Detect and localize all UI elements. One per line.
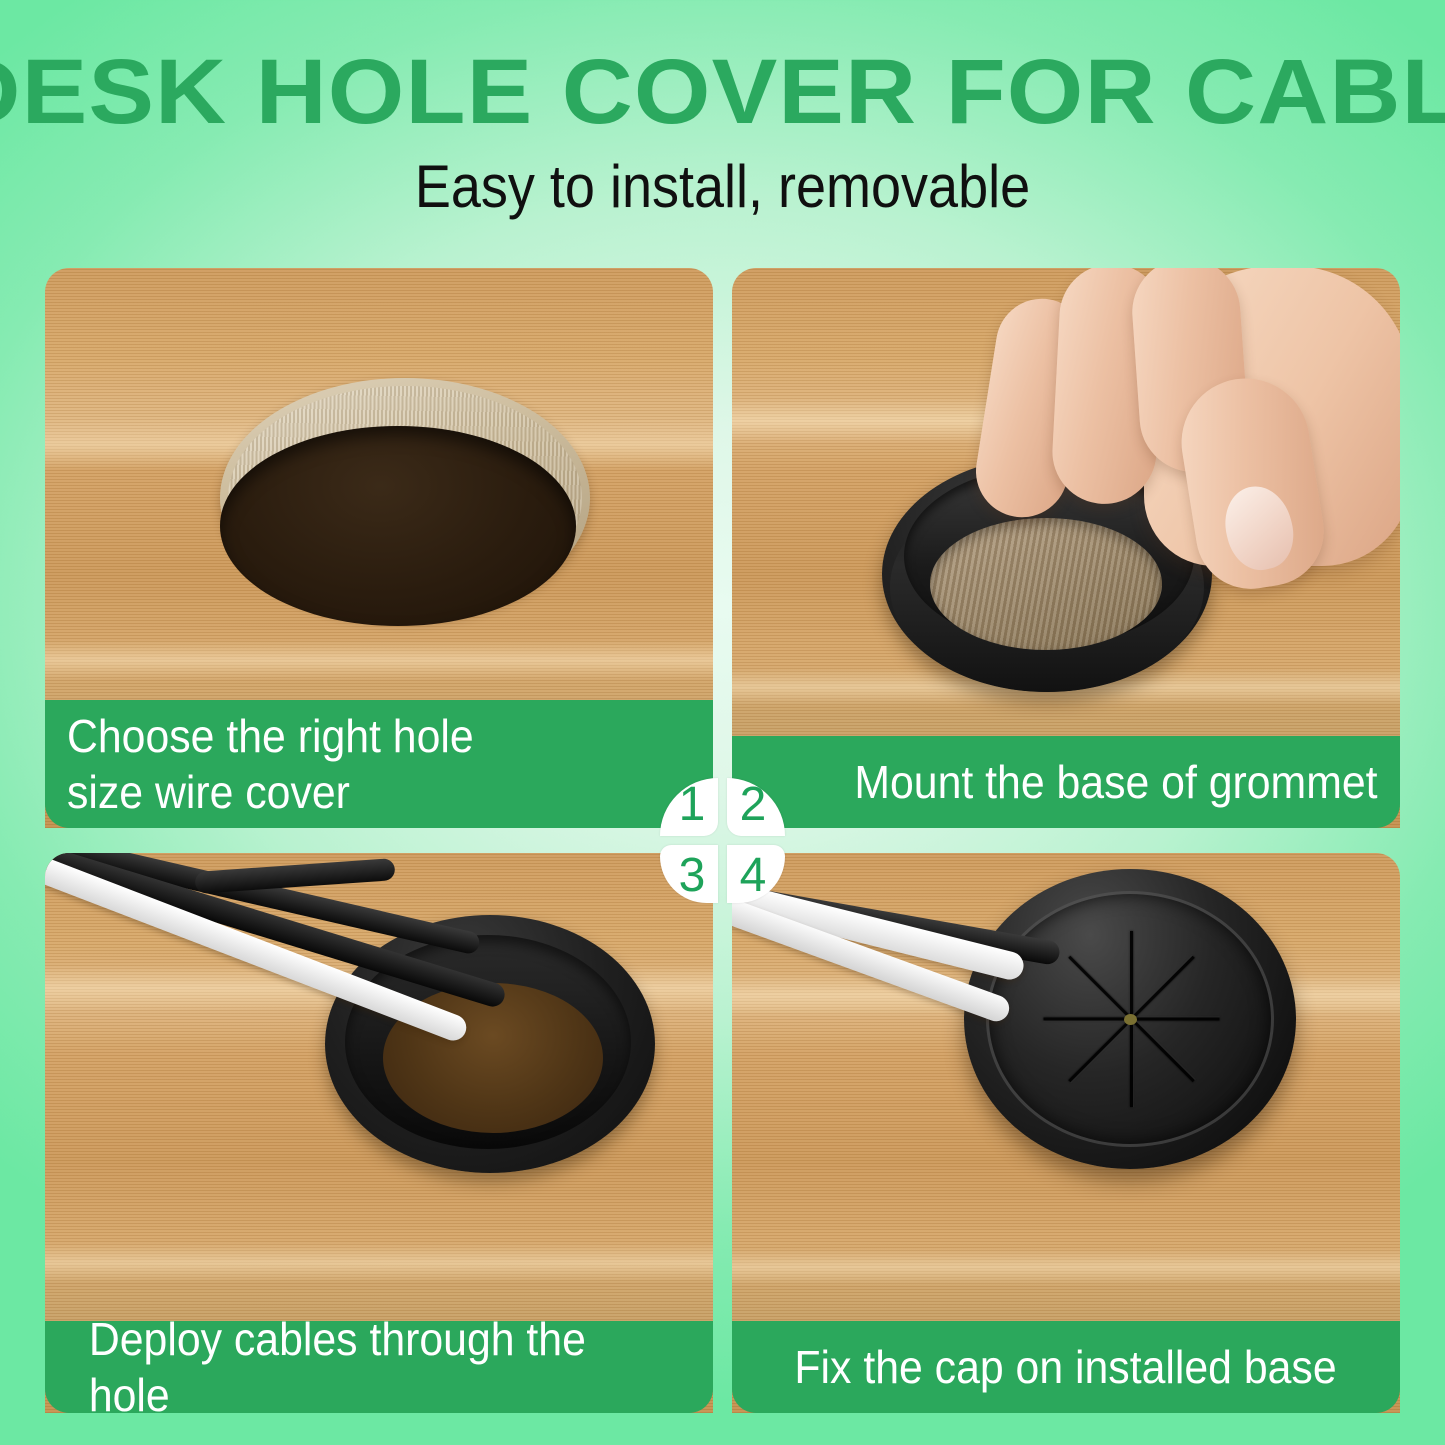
step-panel-3: Deploy cables through the hole [45, 853, 713, 1413]
page-title: DESK HOLE COVER FOR CABLES [0, 44, 1445, 140]
cable-black-loop [194, 858, 395, 894]
hole-opening [220, 426, 576, 626]
step-number-3: 3 [660, 845, 718, 903]
step-panel-2: Mount the base of grommet [732, 268, 1400, 828]
step-4-caption: Fix the cap on installed base [732, 1321, 1400, 1413]
step-3-caption: Deploy cables through the hole [45, 1321, 713, 1413]
step-number-badge-group: 1 2 3 4 [660, 778, 785, 903]
step-number-2: 2 [727, 778, 785, 836]
step-2-caption-line1: Mount the base of grommet [855, 754, 1378, 810]
step-1-caption-line1: Choose the right hole [67, 708, 474, 764]
step-panel-1: Choose the right hole size wire cover [45, 268, 713, 828]
hand [968, 268, 1400, 678]
step-number-1: 1 [660, 778, 718, 836]
slit-hub [1124, 1014, 1137, 1025]
step-4-caption-line1: Fix the cap on installed base [795, 1339, 1337, 1395]
page-subtitle: Easy to install, removable [72, 154, 1373, 220]
step-panel-4: Fix the cap on installed base [732, 853, 1400, 1413]
step-1-caption: Choose the right hole size wire cover [45, 700, 713, 828]
step-2-caption: Mount the base of grommet [732, 736, 1400, 828]
header: DESK HOLE COVER FOR CABLES Easy to insta… [0, 0, 1445, 220]
step-3-caption-line1: Deploy cables through the hole [89, 1311, 669, 1423]
step-1-caption-line2: size wire cover [67, 764, 474, 820]
step-number-4: 4 [727, 845, 785, 903]
grommet-cap-slits [986, 891, 1274, 1147]
